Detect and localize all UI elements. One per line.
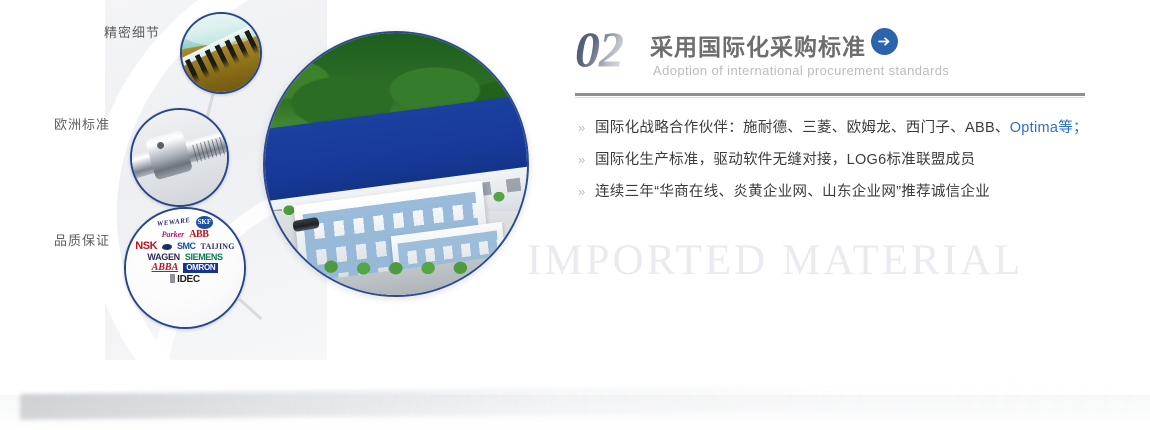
brand-logo-abb: ABB [189,230,208,240]
bullet-marker-icon: » [578,150,595,170]
list-item: » 连续三年“华商在线、炎黄企业网、山东企业网”推荐诚信企业 [578,182,1093,202]
bullet-marker-icon: » [578,118,595,138]
label-precision-detail: 精密细节 [104,22,160,41]
list-item-text-plain: 国际化战略合作伙伴：施耐德、三菱、欧姆龙、西门子、ABB、 [595,120,1010,136]
brand-row: IDEC [130,274,240,285]
list-item: » 国际化战略合作伙伴：施耐德、三菱、欧姆龙、西门子、ABB、Optima等； [578,118,1093,138]
brand-logo-list: WEWARE SKF Parker ABB NSK SMC TAIJING WA… [126,209,244,327]
smc-mark-icon [162,244,172,250]
brand-logo-smc: SMC [177,242,196,251]
list-item-text-plain: 国际化生产标准，驱动软件无缝对接，LOG6标准联盟成员 [595,152,975,168]
brand-logo-parker: Parker [162,231,185,239]
photo-bubble-ball-screw [130,108,229,207]
section-number: 02 [575,24,623,74]
header-divider [575,93,1085,98]
label-quality-assurance: 品质保证 [54,230,110,249]
brand-row: NSK SMC TAIJING [130,241,240,252]
left-image-collage: 精密细节 欧洲标准 品质保证 WEWARE SKF [0,0,545,385]
list-item: » 国际化生产标准，驱动软件无缝对接，LOG6标准联盟成员 [578,150,1093,170]
brand-logo-siemens: SIEMENS [185,253,223,262]
page-subtitle: Adoption of international procurement st… [653,63,949,78]
list-item-text-plain: 连续三年“华商在线、炎黄企业网、山东企业网”推荐诚信企业 [595,184,990,200]
promo-banner: 精密细节 欧洲标准 品质保证 WEWARE SKF [0,0,1150,430]
brand-row: ABBA OMRON [130,263,240,273]
brand-logo-abba: ABBA [152,263,179,273]
photo-bubble-precision-detail [180,12,262,94]
divider-line-thin [575,97,1085,98]
page-title: 采用国际化采购标准 [650,28,866,62]
brand-logo-taijing: TAIJING [201,243,235,251]
list-item-text-highlight: Optima等； [1010,120,1088,136]
photo-bubble-brand-logos: WEWARE SKF Parker ABB NSK SMC TAIJING WA… [124,207,246,329]
list-item-text: 国际化战略合作伙伴：施耐德、三菱、欧姆龙、西门子、ABB、Optima等； [595,118,1088,138]
list-item-text: 连续三年“华商在线、炎黄企业网、山东企业网”推荐诚信企业 [595,182,990,202]
brand-logo-wagen: WAGEN [147,253,180,262]
label-european-standard: 欧洲标准 [54,114,110,133]
feature-bullet-list: » 国际化战略合作伙伴：施耐德、三菱、欧姆龙、西门子、ABB、Optima等； … [578,118,1093,214]
arrow-right-icon[interactable] [871,28,898,55]
right-content-panel: 02 采用国际化采购标准 Adoption of international p… [575,0,1095,430]
brand-row: WEWARE SKF [130,216,240,229]
brand-logo-nsk: NSK [135,241,157,252]
list-item-text: 国际化生产标准，驱动软件无缝对接，LOG6标准联盟成员 [595,150,975,170]
brand-logo-omron: OMRON [183,263,218,273]
watermark-text: IMPORTED MATERIAL [527,236,1023,285]
brand-row: WAGEN SIEMENS [130,253,240,262]
brand-logo-weware: WEWARE [157,217,191,228]
bullet-marker-icon: » [578,182,595,202]
photo-bubble-factory-aerial [263,31,529,297]
brand-logo-idec: IDEC [170,274,200,285]
brand-logo-skf: SKF [196,216,213,229]
brand-row: Parker ABB [130,230,240,240]
